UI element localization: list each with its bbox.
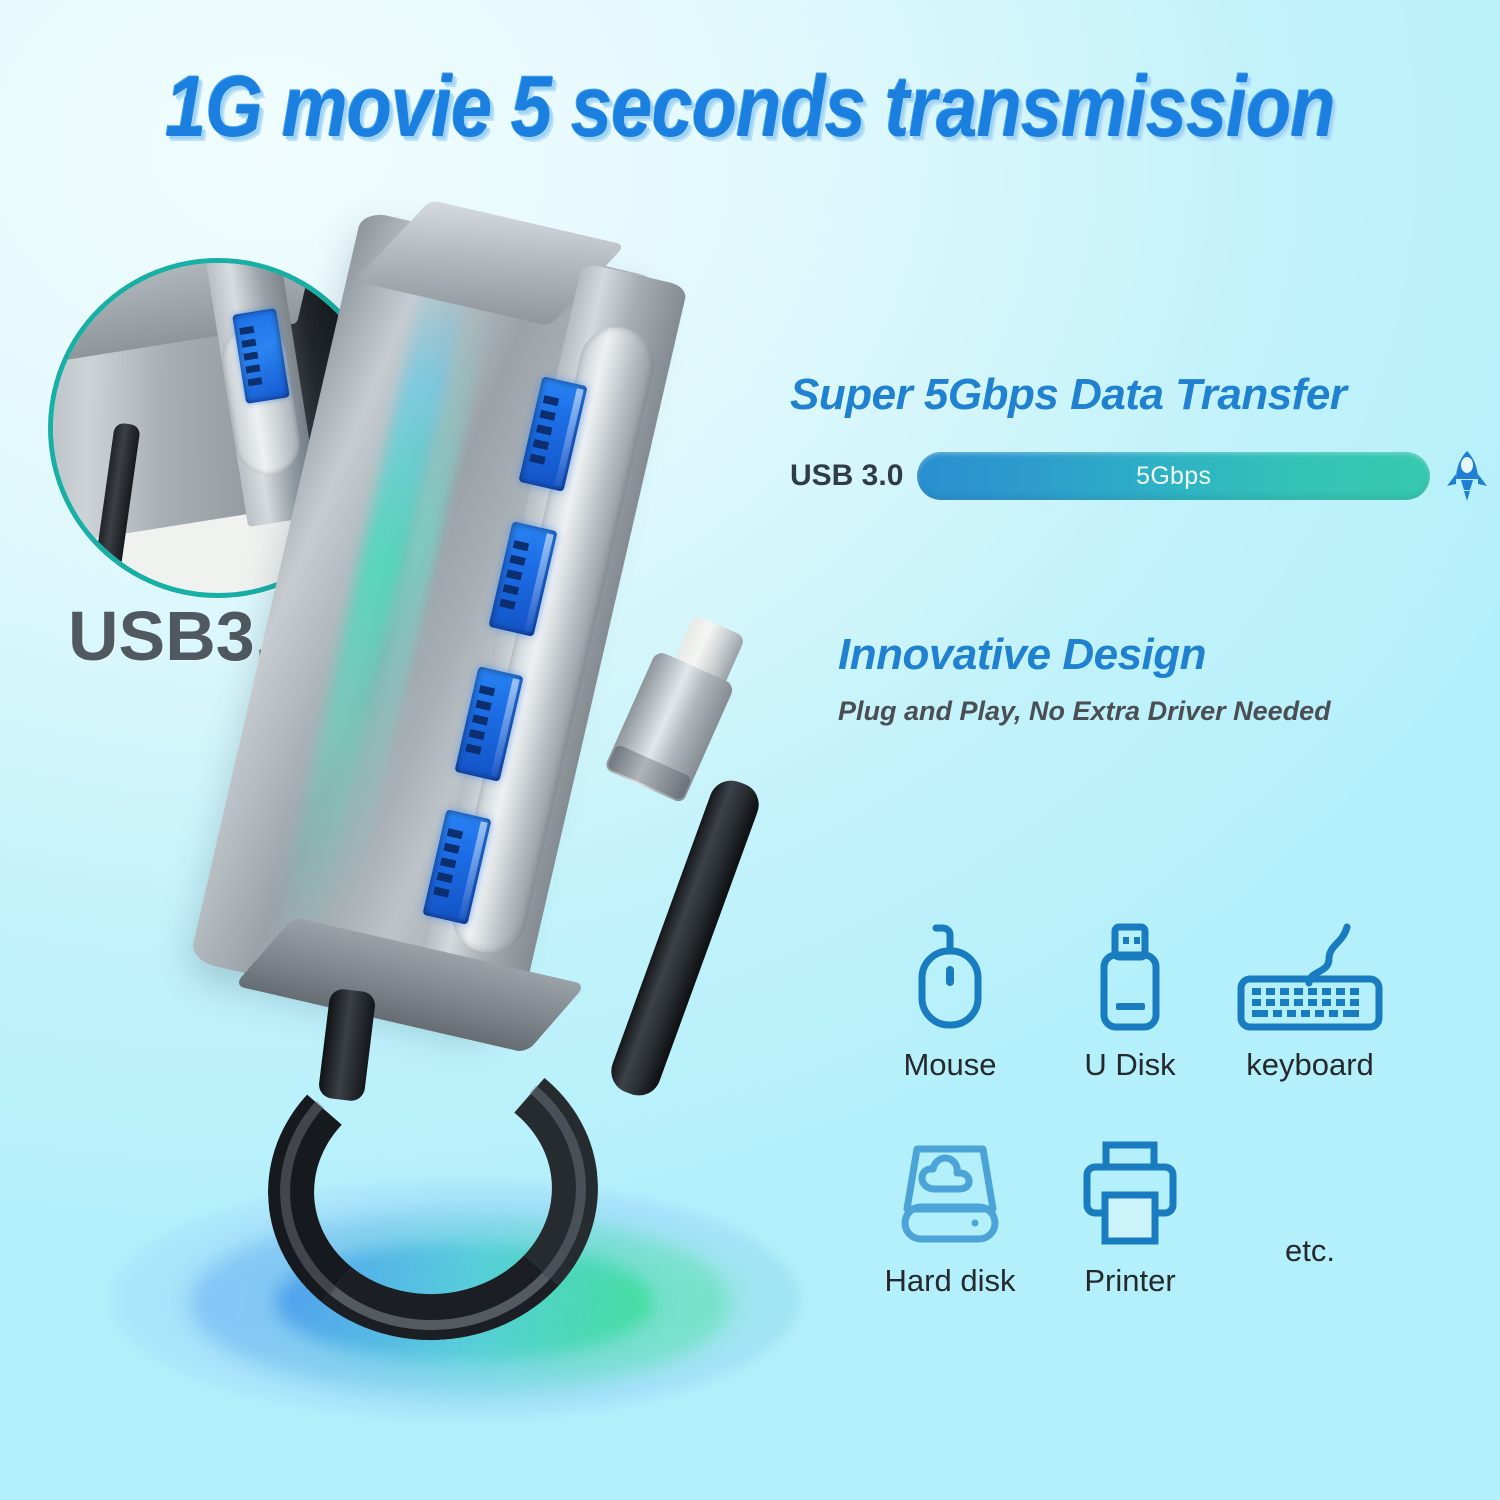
innovative-design-section: Innovative Design Plug and Play, No Extr… bbox=[838, 630, 1478, 727]
mouse-icon bbox=[900, 915, 1000, 1033]
cable-loop bbox=[268, 1040, 688, 1380]
innovative-design-heading: Innovative Design bbox=[838, 630, 1478, 680]
rocket-icon bbox=[1444, 450, 1490, 502]
data-transfer-heading: Super 5Gbps Data Transfer bbox=[790, 370, 1490, 420]
page-title: 1G movie 5 seconds transmission bbox=[105, 62, 1395, 152]
infographic-canvas: 1G movie 5 seconds transmission USB3.0 bbox=[0, 0, 1500, 1500]
device-label: Mouse bbox=[903, 1047, 996, 1083]
device-u-disk: U Disk bbox=[1040, 915, 1220, 1083]
device-label: keyboard bbox=[1246, 1047, 1374, 1083]
device-printer: Printer bbox=[1040, 1131, 1220, 1299]
keyboard-icon bbox=[1235, 915, 1385, 1033]
usb-flash-drive-icon bbox=[1080, 915, 1180, 1033]
printer-icon bbox=[1075, 1131, 1185, 1249]
speed-value-label: 5Gbps bbox=[1136, 462, 1211, 491]
device-etc: etc. bbox=[1220, 1131, 1400, 1299]
device-hard-disk: Hard disk bbox=[860, 1131, 1040, 1299]
device-label: Hard disk bbox=[885, 1263, 1016, 1299]
speed-progress-bar: 5Gbps bbox=[917, 452, 1430, 500]
hard-disk-icon bbox=[895, 1131, 1005, 1249]
device-mouse: Mouse bbox=[860, 915, 1040, 1083]
compatible-devices-row-1: Mouse U Disk bbox=[860, 915, 1420, 1083]
compatible-devices-grid: Mouse U Disk bbox=[860, 915, 1420, 1299]
compatible-devices-row-2: Hard disk Printer etc. bbox=[860, 1131, 1420, 1299]
device-label: Printer bbox=[1084, 1263, 1175, 1299]
speed-bar-row: USB 3.0 5Gbps bbox=[790, 448, 1490, 504]
product-illustration bbox=[230, 225, 790, 1085]
usb-version-label: USB 3.0 bbox=[790, 459, 903, 493]
device-label: U Disk bbox=[1084, 1047, 1175, 1083]
device-label: etc. bbox=[1285, 1161, 1335, 1269]
device-keyboard: keyboard bbox=[1220, 915, 1400, 1083]
data-transfer-section: Super 5Gbps Data Transfer USB 3.0 5Gbps bbox=[790, 370, 1490, 420]
innovative-design-subheading: Plug and Play, No Extra Driver Needed bbox=[838, 696, 1478, 727]
